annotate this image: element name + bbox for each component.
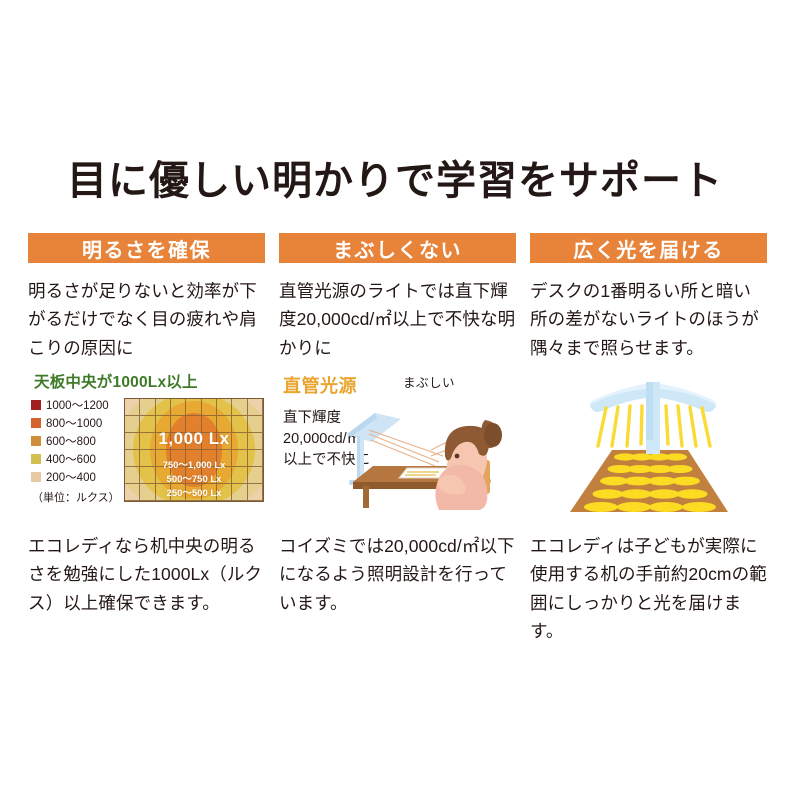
column-tail-brightness: エコレディなら机中央の明るさを勉強にした1000Lx（ルクス）以上確保できます。 bbox=[28, 532, 265, 617]
wide-light-illustration bbox=[542, 370, 757, 520]
legend-item: 400〜600 bbox=[31, 450, 123, 468]
glare-rays-icon bbox=[369, 430, 457, 466]
desk-scene-figure: 直管光源 まぶしい 直下輝度 20,000cd/㎡ 以上で不快に bbox=[279, 370, 516, 512]
column-header-glare: まぶしくない bbox=[279, 233, 516, 263]
feature-column-glare: まぶしくない 直管光源のライトでは直下輝度20,000cd/㎡以上で不快な明かり… bbox=[279, 233, 516, 673]
legend-label: 200〜400 bbox=[46, 469, 96, 485]
legend-item: 1000〜1200 bbox=[31, 396, 123, 414]
heatmap-legend: 1000〜1200 800〜1000 600〜800 400〜600 bbox=[31, 396, 123, 505]
heatmap-ring3-value: 250〜500 Lx bbox=[125, 485, 263, 499]
heatmap-ring1-value: 750〜1,000 Lx bbox=[125, 457, 263, 471]
glare-callout-label: まぶしい bbox=[403, 372, 455, 391]
legend-label: 400〜600 bbox=[46, 451, 96, 467]
column-figure-brightness: 天板中央が1000Lx以上 1000〜1200 800〜1000 600 bbox=[28, 370, 265, 510]
feature-column-wide-light: 広く光を届ける デスクの1番明るい所と暗い所の差がないライトのほうが隅々まで照ら… bbox=[530, 233, 767, 673]
column-header-wide-light: 広く光を届ける bbox=[530, 233, 767, 263]
column-tail-glare: コイズミでは20,000cd/㎡以下になるよう照明設計を行っています。 bbox=[279, 532, 516, 617]
legend-swatch-icon bbox=[31, 472, 41, 482]
feature-columns: 明るさを確保 明るさが足りないと効率が下がるだけでなく目の疲れや肩こりの原因に … bbox=[28, 233, 768, 673]
legend-swatch-icon bbox=[31, 418, 41, 428]
student-at-desk-illustration bbox=[335, 390, 515, 512]
heatmap-center-value: 1,000 Lx bbox=[125, 429, 263, 449]
column-figure-glare: 直管光源 まぶしい 直下輝度 20,000cd/㎡ 以上で不快に bbox=[279, 370, 516, 512]
lamp-pole-base-icon bbox=[646, 440, 660, 454]
heatmap-figure: 天板中央が1000Lx以上 1000〜1200 800〜1000 600 bbox=[28, 370, 265, 510]
column-lead-wide-light: デスクの1番明るい所と暗い所の差がないライトのほうが隅々まで照らせます。 bbox=[530, 277, 767, 362]
page-title: 目に優しい明かりで学習をサポート bbox=[0, 148, 790, 206]
heatmap-title: 天板中央が1000Lx以上 bbox=[34, 370, 198, 392]
heatmap-grid-illustration: 1,000 Lx 750〜1,000 Lx 500〜750 Lx 250〜500… bbox=[124, 398, 264, 502]
girl-figure-icon bbox=[435, 420, 502, 510]
poster-root: 目に優しい明かりで学習をサポート 明るさを確保 明るさが足りないと効率が下がるだ… bbox=[0, 0, 790, 790]
legend-label: 1000〜1200 bbox=[46, 397, 109, 413]
legend-label: 600〜800 bbox=[46, 433, 96, 449]
column-lead-glare: 直管光源のライトでは直下輝度20,000cd/㎡以上で不快な明かりに bbox=[279, 277, 516, 362]
legend-swatch-icon bbox=[31, 454, 41, 464]
column-lead-brightness: 明るさが足りないと効率が下がるだけでなく目の疲れや肩こりの原因に bbox=[28, 277, 265, 362]
legend-item: 600〜800 bbox=[31, 432, 123, 450]
legend-label: 800〜1000 bbox=[46, 415, 102, 431]
heatmap-ring2-value: 500〜750 Lx bbox=[125, 471, 263, 485]
legend-item: 200〜400 bbox=[31, 468, 123, 486]
column-tail-wide-light: エコレディは子どもが実際に使用する机の手前約20cmの範囲にしっかりと光を届けま… bbox=[530, 532, 767, 645]
column-figure-wide-light bbox=[530, 370, 767, 520]
wide-light-figure bbox=[530, 370, 767, 520]
legend-swatch-icon bbox=[31, 436, 41, 446]
legend-unit-note: （単位：ルクス） bbox=[31, 489, 123, 505]
column-header-brightness: 明るさを確保 bbox=[28, 233, 265, 263]
legend-item: 800〜1000 bbox=[31, 414, 123, 432]
feature-column-brightness: 明るさを確保 明るさが足りないと効率が下がるだけでなく目の疲れや肩こりの原因に … bbox=[28, 233, 265, 673]
wing-lamp-icon bbox=[590, 382, 716, 444]
legend-swatch-icon bbox=[31, 400, 41, 410]
